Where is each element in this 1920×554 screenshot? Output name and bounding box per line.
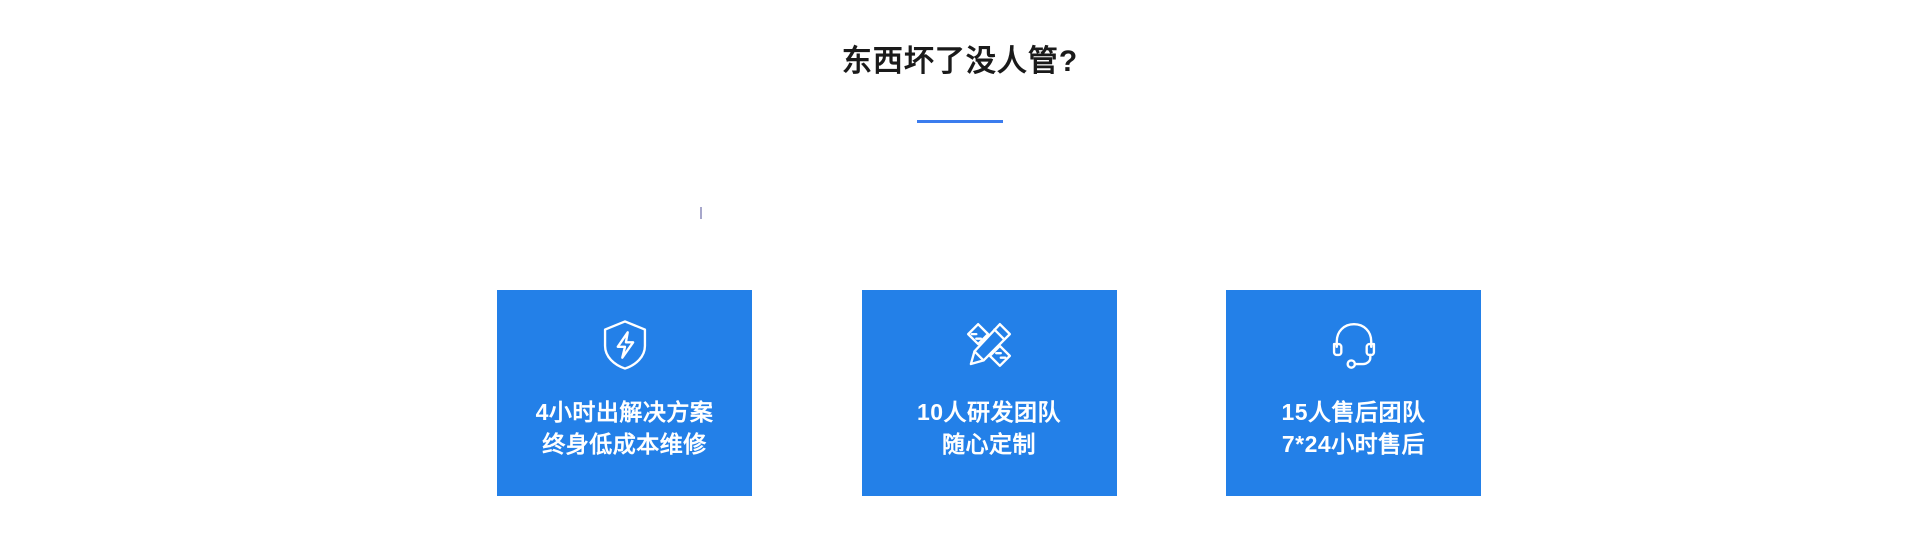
feature-card-1-text: 4小时出解决方案 终身低成本维修	[536, 396, 714, 460]
feature-card-1-line1: 4小时出解决方案	[536, 396, 714, 428]
page-title: 东西坏了没人管?	[0, 42, 1920, 82]
promo-section: 东西坏了没人管? 4小时出解决方案 终身低成本维修	[0, 0, 1920, 554]
feature-card-3-line1: 15人售后团队	[1281, 396, 1425, 428]
pencil-ruler-icon	[960, 316, 1018, 374]
shield-bolt-icon	[596, 316, 654, 374]
feature-card-1[interactable]: 4小时出解决方案 终身低成本维修	[497, 290, 752, 496]
feature-card-2-text: 10人研发团队 随心定制	[917, 396, 1061, 460]
section-header: 东西坏了没人管?	[0, 0, 1920, 123]
feature-card-3[interactable]: 15人售后团队 7*24小时售后	[1226, 290, 1481, 496]
feature-card-2[interactable]: 10人研发团队 随心定制	[862, 290, 1117, 496]
feature-card-2-line1: 10人研发团队	[917, 396, 1061, 428]
feature-card-3-line2: 7*24小时售后	[1281, 428, 1425, 460]
feature-card-1-line2: 终身低成本维修	[536, 428, 714, 460]
feature-card-list: 4小时出解决方案 终身低成本维修	[497, 290, 1481, 496]
headset-icon	[1325, 316, 1383, 374]
artifact-speck	[700, 207, 702, 219]
title-divider	[917, 120, 1003, 123]
feature-card-3-text: 15人售后团队 7*24小时售后	[1281, 396, 1425, 460]
feature-card-2-line2: 随心定制	[917, 428, 1061, 460]
